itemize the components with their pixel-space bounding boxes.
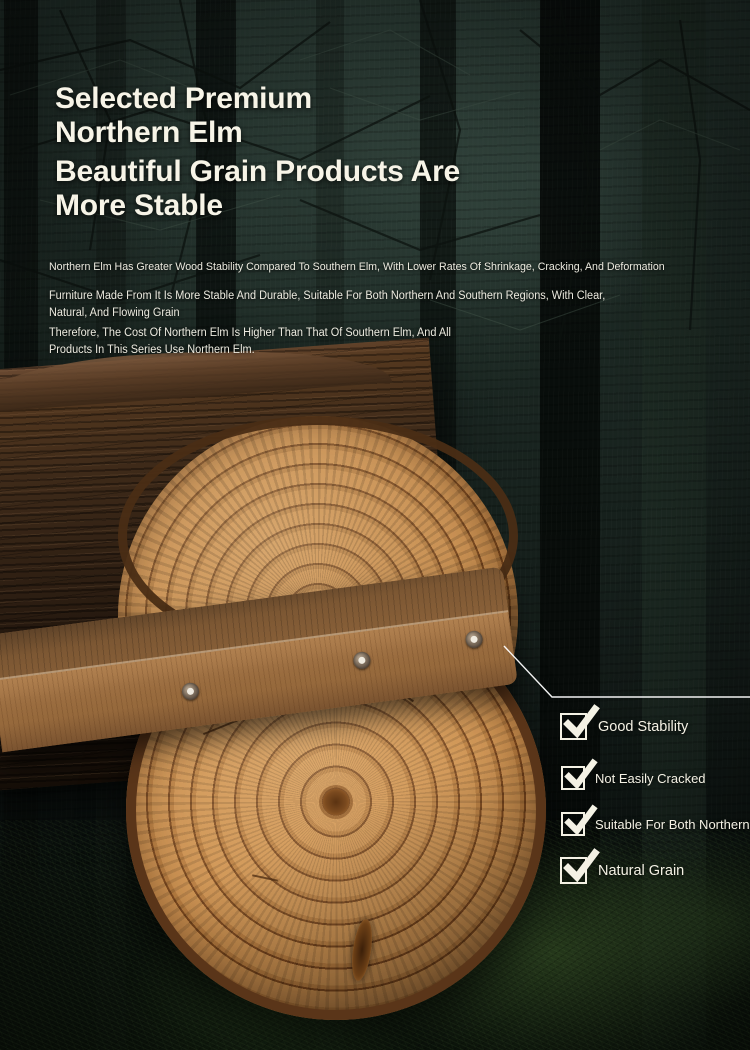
checkbox[interactable]: [561, 812, 585, 836]
feature-label: Suitable For Both Northern A: [595, 817, 750, 832]
checkbox[interactable]: [560, 857, 587, 884]
headline-secondary: Beautiful Grain Products Are More Stable: [55, 155, 695, 223]
feature-item-natural-grain: Natural Grain: [560, 857, 684, 884]
checkbox[interactable]: [561, 766, 585, 790]
check-icon: [565, 762, 596, 791]
product-poster: Selected Premium Northern Elm Beautiful …: [0, 0, 750, 1050]
feature-label: Natural Grain: [598, 863, 684, 879]
feature-item-good-stability: Good Stability: [560, 713, 688, 740]
pith-center: [323, 789, 349, 815]
check-icon: [564, 852, 598, 884]
description-paragraph-1: Northern Elm Has Greater Wood Stability …: [49, 259, 724, 275]
feature-item-not-easily-cracked: Not Easily Cracked: [561, 766, 706, 790]
check-icon: [564, 708, 598, 740]
check-icon: [565, 808, 596, 837]
description-paragraph-2: Furniture Made From It Is More Stable An…: [49, 288, 667, 321]
feature-label: Not Easily Cracked: [595, 771, 706, 786]
feature-label: Good Stability: [598, 719, 688, 735]
headline-primary: Selected Premium Northern Elm: [55, 82, 655, 150]
checkbox[interactable]: [560, 713, 587, 740]
feature-item-suitable-regions: Suitable For Both Northern A: [561, 812, 750, 836]
description-paragraph-3: Therefore, The Cost Of Northern Elm Is H…: [49, 325, 581, 358]
